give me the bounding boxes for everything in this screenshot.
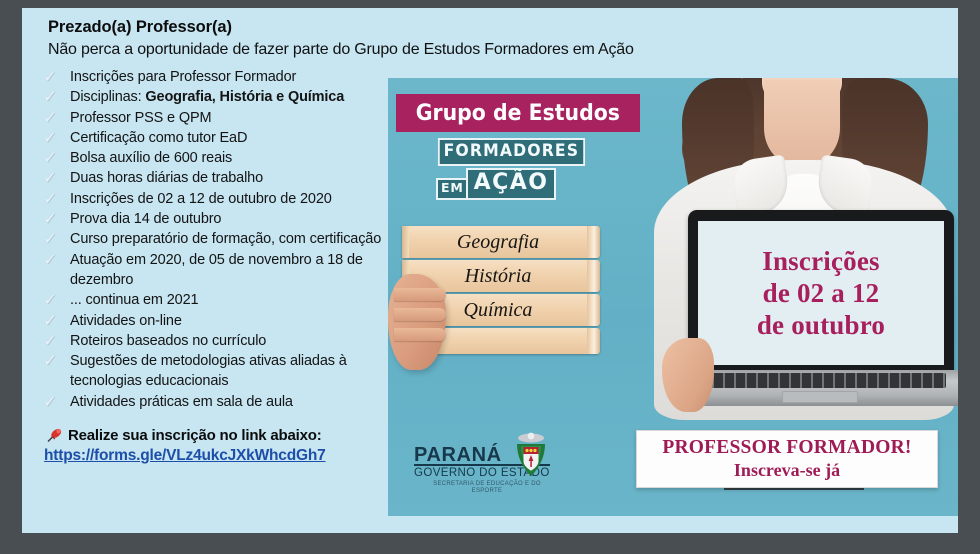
- list-item-label: Disciplinas:: [70, 89, 145, 105]
- tag-formadores: FORMADORES: [438, 138, 585, 166]
- list-item-label: Duas horas diárias de trabalho: [70, 170, 263, 186]
- greeting-heading: Prezado(a) Professor(a): [48, 18, 408, 37]
- list-item: ✓ Prova dia 14 de outubro: [40, 209, 408, 229]
- list-item: ✓ Curso preparatório de formação, com ce…: [40, 229, 408, 249]
- tag-row-formadores: FORMADORES: [434, 138, 604, 166]
- tag-row-em-acao: EM AÇÃO: [434, 168, 604, 200]
- letter-text-column: Prezado(a) Professor(a) Não perca a opor…: [40, 18, 408, 465]
- registration-instruction-label: Realize sua inscrição no link abaixo:: [68, 427, 322, 444]
- list-item-label: Prova dia 14 de outubro: [70, 211, 221, 227]
- promo-poster-image: Grupo de Estudos FORMADORES EM AÇÃO Geog…: [388, 78, 958, 516]
- check-mark-icon: ✓: [43, 312, 63, 330]
- check-mark-icon: ✓: [43, 129, 63, 147]
- list-item: ✓ Sugestões de metodologias ativas aliad…: [40, 351, 408, 392]
- neck: [764, 80, 840, 166]
- list-item-label: Atividades on-line: [70, 313, 182, 329]
- list-item: ✓ Duas horas diárias de trabalho: [40, 168, 408, 188]
- registration-cta-block: Realize sua inscrição no link abaixo: ht…: [44, 426, 408, 465]
- check-mark-icon: ✓: [43, 332, 63, 350]
- check-mark-icon: ✓: [43, 190, 63, 208]
- check-mark-icon: ✓: [43, 169, 63, 187]
- list-item-label: Bolsa auxílio de 600 reais: [70, 150, 232, 166]
- registration-instruction: Realize sua inscrição no link abaixo:: [44, 426, 408, 444]
- laptop-keyboard: [692, 373, 946, 388]
- poster-title-banner: Grupo de Estudos: [396, 94, 640, 132]
- check-mark-icon: ✓: [43, 149, 63, 167]
- list-item: ✓ Bolsa auxílio de 600 reais: [40, 148, 408, 168]
- finger: [394, 308, 446, 321]
- registration-form-link[interactable]: https://forms.gle/VLz4ukcJXkWhcdGh7: [44, 447, 326, 465]
- finger: [394, 288, 446, 301]
- laptop-base: [674, 370, 958, 406]
- list-item: ✓ ... continua em 2021: [40, 290, 408, 310]
- list-item-label: Atuação em 2020, de 05 de novembro a 18 …: [70, 252, 363, 288]
- list-item: ✓ Certificação como tutor EaD: [40, 128, 408, 148]
- laptop-graphic: Inscrições de 02 a 12 de outubro: [688, 210, 954, 406]
- list-item: ✓ Inscrições para Professor Formador: [40, 67, 408, 87]
- check-mark-icon: ✓: [43, 251, 63, 269]
- list-item: ✓ Professor PSS e QPM: [40, 108, 408, 128]
- list-item-label: Sugestões de metodologias ativas aliadas…: [70, 353, 347, 389]
- screen-line-2: de 02 a 12: [757, 277, 885, 309]
- list-item: ✓ Atividades práticas em sala de aula: [40, 392, 408, 412]
- benefits-list: ✓ Inscrições para Professor Formador ✓ D…: [40, 67, 408, 412]
- list-item-label: Curso preparatório de formação, com cert…: [70, 231, 381, 247]
- tag-acao: AÇÃO: [466, 168, 557, 200]
- laptop-trackpad: [782, 391, 858, 403]
- check-mark-icon: ✓: [43, 393, 63, 411]
- check-mark-icon: ✓: [43, 109, 63, 127]
- screen-line-3: de outubro: [757, 309, 885, 341]
- check-mark-icon: ✓: [43, 210, 63, 228]
- list-item-label: Professor PSS e QPM: [70, 110, 211, 126]
- check-mark-icon: ✓: [43, 291, 63, 309]
- poster-title-text: Grupo de Estudos: [416, 101, 620, 126]
- book-title-label: História: [465, 265, 532, 288]
- laptop-lid: Inscrições de 02 a 12 de outubro: [688, 210, 954, 374]
- book-geografia: Geografia: [402, 226, 600, 258]
- slide-canvas: Prezado(a) Professor(a) Não perca a opor…: [22, 8, 958, 533]
- list-item-label: Inscrições de 02 a 12 de outubro de 2020: [70, 191, 332, 207]
- book-title-label: Química: [464, 299, 533, 322]
- list-item-emphasis: Geografia, História e Química: [145, 89, 344, 105]
- list-item-label: Certificação como tutor EaD: [70, 130, 247, 146]
- poster-cta-banner: PROFESSOR FORMADOR! Inscreva-se já: [636, 430, 938, 488]
- list-item: ✓ Atividades on-line: [40, 311, 408, 331]
- list-item-label: ... continua em 2021: [70, 292, 198, 308]
- tag-em: EM: [436, 178, 469, 200]
- list-item-label: Atividades práticas em sala de aula: [70, 394, 293, 410]
- subheading-text: Não perca a oportunidade de fazer parte …: [48, 41, 408, 59]
- list-item: ✓ Roteiros baseados no currículo: [40, 331, 408, 351]
- list-item: ✓ Inscrições de 02 a 12 de outubro de 20…: [40, 189, 408, 209]
- check-mark-icon: ✓: [43, 88, 63, 106]
- pushpin-icon: [44, 426, 64, 444]
- list-item-label: Inscrições para Professor Formador: [70, 69, 296, 85]
- list-item: ✓ Disciplinas: Geografia, História e Quí…: [40, 87, 408, 107]
- parana-logo-department: SECRETARIA DE EDUCAÇÃO E DO ESPORTE: [432, 481, 542, 495]
- list-item: ✓ Atuação em 2020, de 05 de novembro a 1…: [40, 250, 408, 291]
- list-item-label: Roteiros baseados no currículo: [70, 333, 266, 349]
- poster-cta-line2: Inscreva-se já: [734, 460, 840, 481]
- hand-supporting-laptop-photo: [662, 338, 714, 412]
- check-mark-icon: ✓: [43, 352, 63, 370]
- poster-subtitle-tags: FORMADORES EM AÇÃO: [434, 138, 604, 200]
- check-mark-icon: ✓: [43, 68, 63, 86]
- screen-line-1: Inscrições: [757, 245, 885, 277]
- laptop-screen: Inscrições de 02 a 12 de outubro: [698, 221, 944, 365]
- parana-government-logo: PARANÁ GOVERNO DO ESTADO SECRETARIA DE E…: [414, 430, 560, 494]
- parana-coat-of-arms-icon: [510, 430, 552, 480]
- poster-cta-line1: PROFESSOR FORMADOR!: [662, 437, 911, 459]
- check-mark-icon: ✓: [43, 230, 63, 248]
- finger: [394, 328, 446, 341]
- book-title-label: Geografia: [457, 231, 539, 254]
- laptop-screen-text: Inscrições de 02 a 12 de outubro: [757, 245, 885, 341]
- window-frame: Prezado(a) Professor(a) Não perca a opor…: [0, 0, 980, 554]
